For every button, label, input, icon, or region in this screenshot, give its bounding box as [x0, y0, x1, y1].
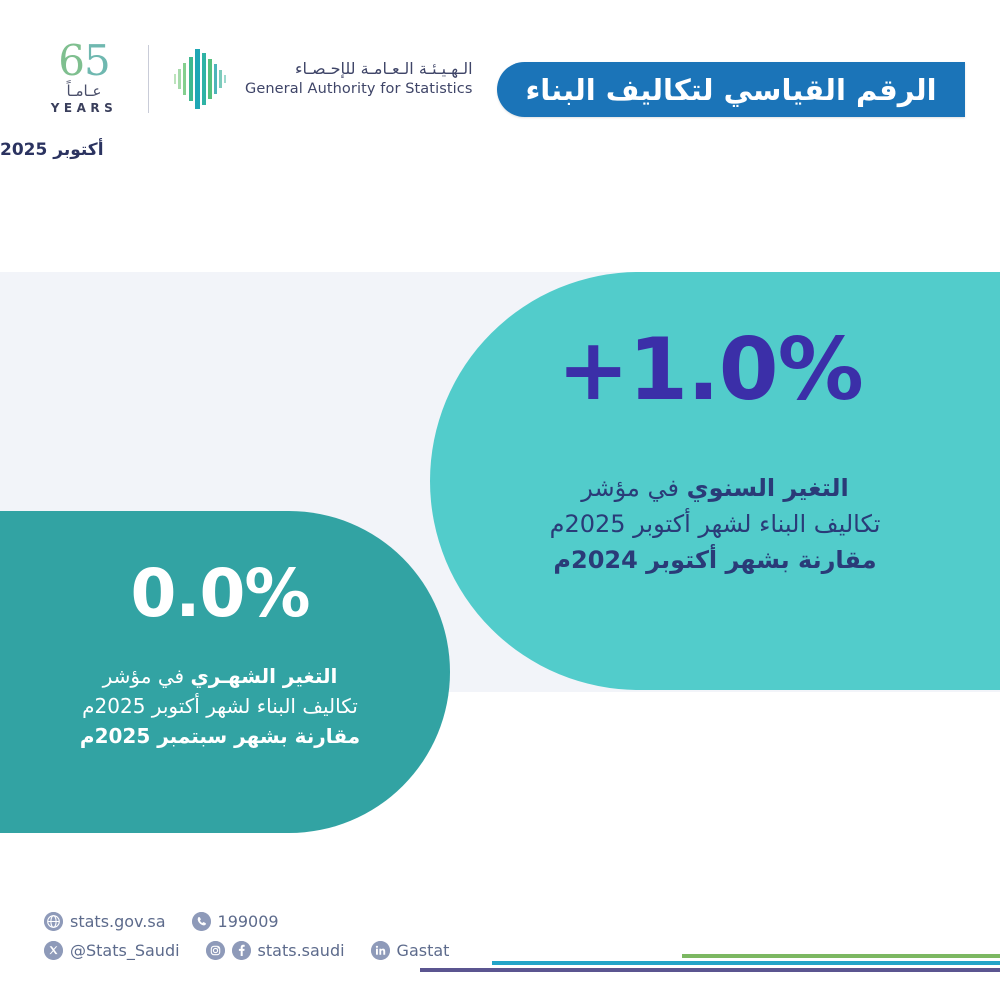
- facebook-icon: [232, 941, 251, 960]
- brand-divider: [148, 45, 149, 113]
- contact-x-twitter-label: @Stats_Saudi: [70, 941, 180, 960]
- annual-desc-line1-rest: في مؤشر: [581, 474, 686, 502]
- footer-rule-purple: [420, 968, 1000, 972]
- globe-icon: [44, 912, 63, 931]
- organization-name-en: General Authority for Statistics: [245, 80, 473, 99]
- instagram-icon: [206, 941, 225, 960]
- contact-social-handle[interactable]: stats.saudi: [206, 941, 345, 960]
- phone-icon: [192, 912, 211, 931]
- contact-list: stats.gov.sa 199009 @Stats_Saudi: [44, 908, 475, 966]
- anniversary-number: 65: [58, 42, 109, 80]
- linkedin-icon: [371, 941, 390, 960]
- gastat-names: الـهـيـئـة الـعـامـة للإحـصـاء General A…: [245, 58, 473, 99]
- monthly-desc-line3: مقارنة بشهر سبتمبر 2025م: [80, 724, 360, 748]
- page-title: الرقم القياسي لتكاليف البناء: [525, 73, 936, 107]
- footer-rule-cyan: [492, 961, 1000, 965]
- monthly-desc-line1-bold: التغير الشهـري: [190, 664, 337, 688]
- contact-website[interactable]: stats.gov.sa: [44, 912, 166, 931]
- anniversary-logo: 65 عـامـاً YEARS: [38, 42, 130, 115]
- anniversary-label-en: YEARS: [51, 101, 118, 115]
- brand-block: 65 عـامـاً YEARS: [38, 42, 473, 115]
- monthly-change-card: 0.0% التغير الشهـري في مؤشر تكاليف البنا…: [0, 511, 450, 833]
- report-date: أكتوبر 2025: [0, 140, 104, 160]
- x-twitter-icon: [44, 941, 63, 960]
- contact-phone-label: 199009: [218, 912, 279, 931]
- monthly-change-description: التغير الشهـري في مؤشر تكاليف البناء لشه…: [10, 661, 430, 751]
- header: 65 عـامـاً YEARS: [0, 0, 1000, 200]
- title-banner: الرقم القياسي لتكاليف البناء: [497, 62, 965, 117]
- monthly-change-value: 0.0%: [0, 557, 440, 631]
- contact-row-1: stats.gov.sa 199009: [44, 908, 475, 935]
- annual-change-value: +1.0%: [430, 322, 990, 418]
- gastat-mark: الـهـيـئـة الـعـامـة للإحـصـاء General A…: [167, 43, 473, 115]
- footer: stats.gov.sa 199009 @Stats_Saudi: [0, 890, 1000, 1000]
- gastat-bars-logo-icon: [169, 43, 233, 115]
- anniversary-digit-first: 6: [58, 36, 84, 85]
- contact-x-twitter[interactable]: @Stats_Saudi: [44, 941, 180, 960]
- footer-rule-green: [682, 954, 1000, 958]
- monthly-desc-line2: تكاليف البناء لشهر أكتوبر 2025م: [82, 694, 358, 718]
- footer-decorative-rules: [420, 954, 1000, 980]
- annual-change-card: +1.0% التغير السنوي في مؤشر تكاليف البنا…: [430, 272, 1000, 690]
- monthly-desc-line1-rest: في مؤشر: [103, 664, 191, 688]
- annual-desc-line1-bold: التغير السنوي: [687, 474, 849, 502]
- contact-website-label: stats.gov.sa: [70, 912, 166, 931]
- infographic-poster: 65 عـامـاً YEARS: [0, 0, 1000, 1000]
- anniversary-label-ar: عـامـاً: [67, 82, 102, 100]
- report-date-row: أكتوبر 2025: [0, 140, 962, 160]
- organization-name-ar: الـهـيـئـة الـعـامـة للإحـصـاء: [245, 58, 473, 80]
- annual-desc-line2: تكاليف البناء لشهر أكتوبر 2025م: [550, 510, 881, 538]
- contact-row-2: @Stats_Saudi stats.saudi Gastat: [44, 937, 475, 964]
- annual-desc-line3: مقارنة بشهر أكتوبر 2024م: [553, 546, 876, 574]
- monthly-card-inner: 0.0% التغير الشهـري في مؤشر تكاليف البنا…: [0, 511, 450, 833]
- contact-phone[interactable]: 199009: [192, 912, 279, 931]
- contact-social-handle-label: stats.saudi: [258, 941, 345, 960]
- anniversary-digit-second: 5: [84, 36, 110, 85]
- annual-change-description: التغير السنوي في مؤشر تكاليف البناء لشهر…: [460, 470, 970, 578]
